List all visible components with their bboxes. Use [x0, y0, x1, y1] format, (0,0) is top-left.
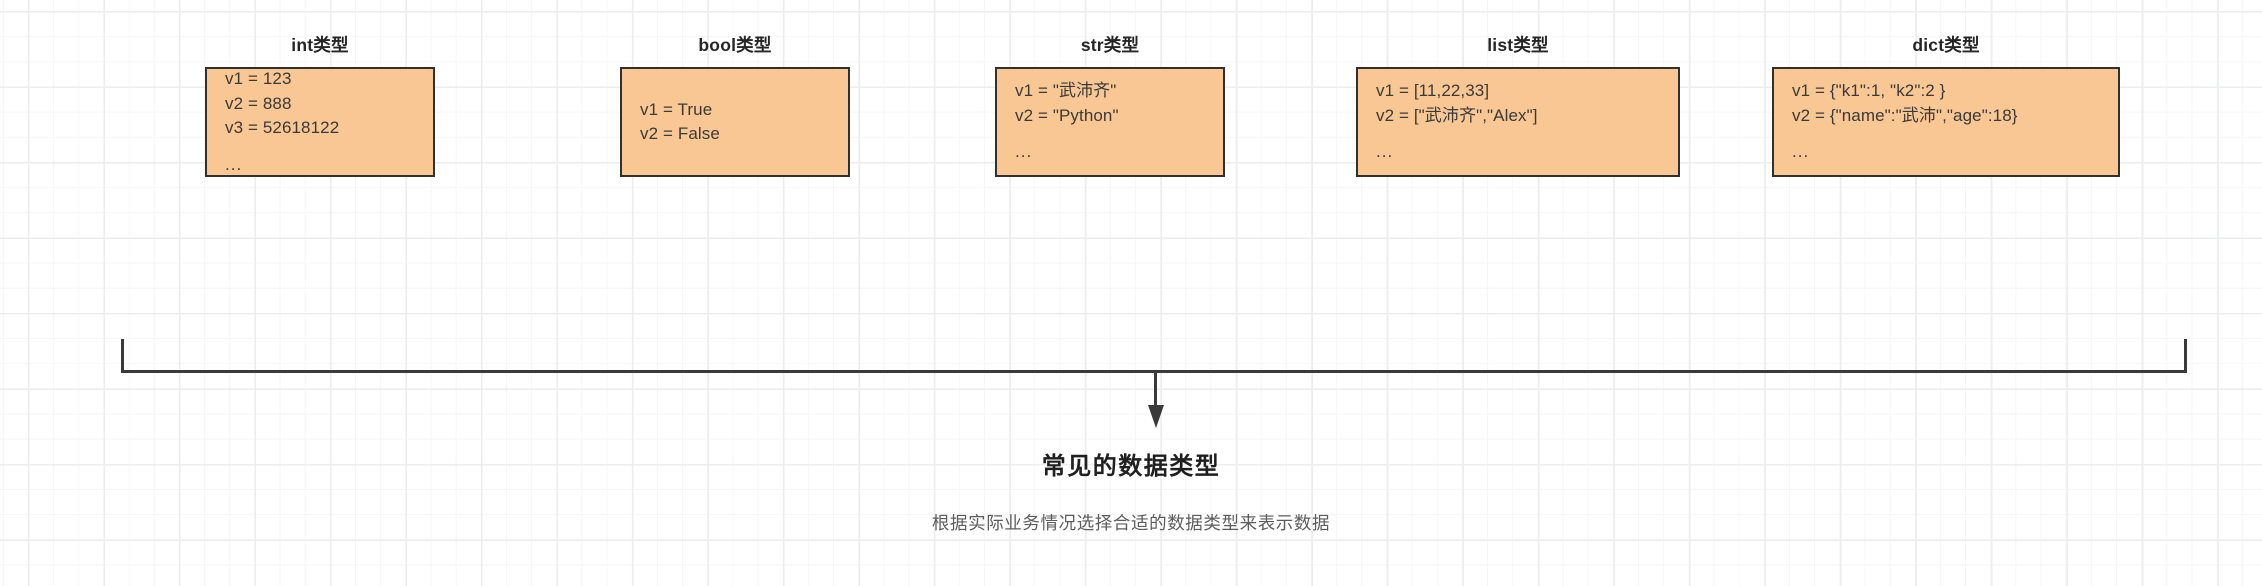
type-box-list: v1 = [11,22,33] v2 = ["武沛齐","Alex"] ...: [1356, 67, 1680, 177]
code-line: v1 = 123: [225, 67, 433, 92]
down-arrow-icon: [1147, 372, 1165, 428]
code-line: v1 = {"k1":1, "k2":2 }: [1792, 79, 2118, 104]
footer-block: 常见的数据类型 根据实际业务情况选择合适的数据类型来表示数据: [0, 450, 2262, 535]
code-ellipsis: ...: [1792, 140, 2118, 165]
code-line: v2 = {"name":"武沛","age":18}: [1792, 104, 2118, 129]
arrow-head: [1148, 405, 1164, 428]
type-box-dict: v1 = {"k1":1, "k2":2 } v2 = {"name":"武沛"…: [1772, 67, 2120, 177]
code-line: v2 = 888: [225, 92, 433, 117]
bracket-right-tick: [2184, 339, 2187, 373]
code-ellipsis: ...: [1015, 140, 1223, 165]
type-title-dict: dict类型: [1772, 34, 2120, 56]
type-title-str: str类型: [995, 34, 1225, 56]
grouping-bracket: [121, 339, 2187, 373]
type-title-list: list类型: [1356, 34, 1680, 56]
diagram-canvas: int类型 v1 = 123 v2 = 888 v3 = 52618122 ..…: [0, 0, 2262, 586]
summary-subtitle: 根据实际业务情况选择合适的数据类型来表示数据: [0, 511, 2262, 535]
type-title-int: int类型: [205, 34, 435, 56]
summary-title: 常见的数据类型: [0, 450, 2262, 484]
type-box-str: v1 = "武沛齐" v2 = "Python" ...: [995, 67, 1225, 177]
code-ellipsis: ...: [1376, 140, 1678, 165]
code-line: v3 = 52618122: [225, 116, 433, 141]
code-line: v2 = ["武沛齐","Alex"]: [1376, 104, 1678, 129]
code-line: v1 = [11,22,33]: [1376, 79, 1678, 104]
code-line: v2 = False: [640, 122, 848, 147]
code-line: v1 = "武沛齐": [1015, 79, 1223, 104]
code-line: v2 = "Python": [1015, 104, 1223, 129]
bracket-left-tick: [121, 339, 124, 373]
type-box-bool: v1 = True v2 = False: [620, 67, 850, 177]
type-title-bool: bool类型: [620, 34, 850, 56]
type-box-int: v1 = 123 v2 = 888 v3 = 52618122 ...: [205, 67, 435, 177]
code-line: v1 = True: [640, 98, 848, 123]
code-ellipsis: ...: [225, 153, 433, 178]
